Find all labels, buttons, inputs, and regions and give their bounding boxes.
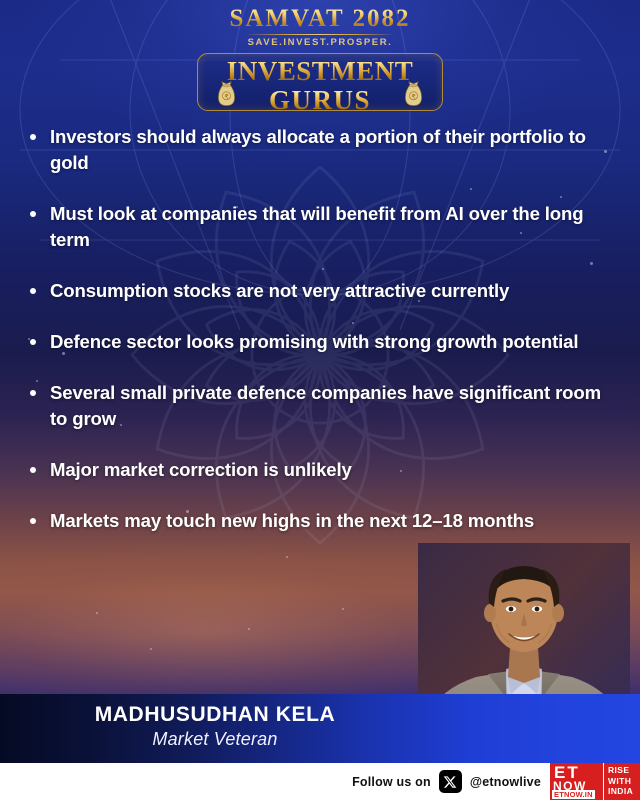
svg-text:₹: ₹ xyxy=(225,94,229,101)
list-item: Must look at companies that will benefit… xyxy=(24,201,612,253)
speaker-role: Market Veteran xyxy=(0,727,430,751)
follow-us-label: Follow us on xyxy=(352,775,431,789)
list-item: Investors should always allocate a porti… xyxy=(24,124,612,176)
etnow-logo[interactable]: ET NOW ETNOW.IN RISE WITH INDIA xyxy=(550,763,640,800)
samvat-title: SAMVAT 2082 xyxy=(0,6,640,32)
logo-url-text: ETNOW.IN xyxy=(552,790,595,799)
social-handle[interactable]: @etnowlive xyxy=(470,775,541,789)
tagline-line-3: INDIA xyxy=(608,786,633,796)
money-bag-icon-left: ₹ xyxy=(215,80,238,108)
list-item: Markets may touch new highs in the next … xyxy=(24,508,612,534)
etnow-tagline: RISE WITH INDIA xyxy=(604,763,640,800)
insights-bullet-list: Investors should always allocate a porti… xyxy=(24,124,612,559)
etnow-logo-mark: ET NOW ETNOW.IN xyxy=(550,763,604,800)
list-item: Defence sector looks promising with stro… xyxy=(24,329,612,355)
speaker-name-banner: MADHUSUDHAN KELA Market Veteran xyxy=(0,694,640,763)
list-item: Several small private defence companies … xyxy=(24,380,612,432)
header-tagline: SAVE.INVEST.PROSPER. xyxy=(0,37,640,48)
list-item: Consumption stocks are not very attracti… xyxy=(24,278,612,304)
header-logo-block: SAMVAT 2082 SAVE.INVEST.PROSPER. INVESTM… xyxy=(0,6,640,111)
tagline-line-2: WITH xyxy=(608,776,631,786)
investment-gurus-card: SAMVAT 2082 SAVE.INVEST.PROSPER. INVESTM… xyxy=(0,0,640,800)
x-twitter-icon[interactable] xyxy=(439,770,462,793)
title-divider xyxy=(245,34,395,35)
investment-gurus-badge: INVESTMENT GURUS ₹ ₹ xyxy=(197,53,443,111)
money-bag-icon-right: ₹ xyxy=(402,80,425,108)
svg-text:₹: ₹ xyxy=(412,94,416,101)
speaker-name: MADHUSUDHAN KELA xyxy=(0,702,430,727)
footer-bar: Follow us on @etnowlive ET NOW ETNOW.IN … xyxy=(0,763,640,800)
tagline-line-1: RISE xyxy=(608,765,629,775)
list-item: Major market correction is unlikely xyxy=(24,457,612,483)
